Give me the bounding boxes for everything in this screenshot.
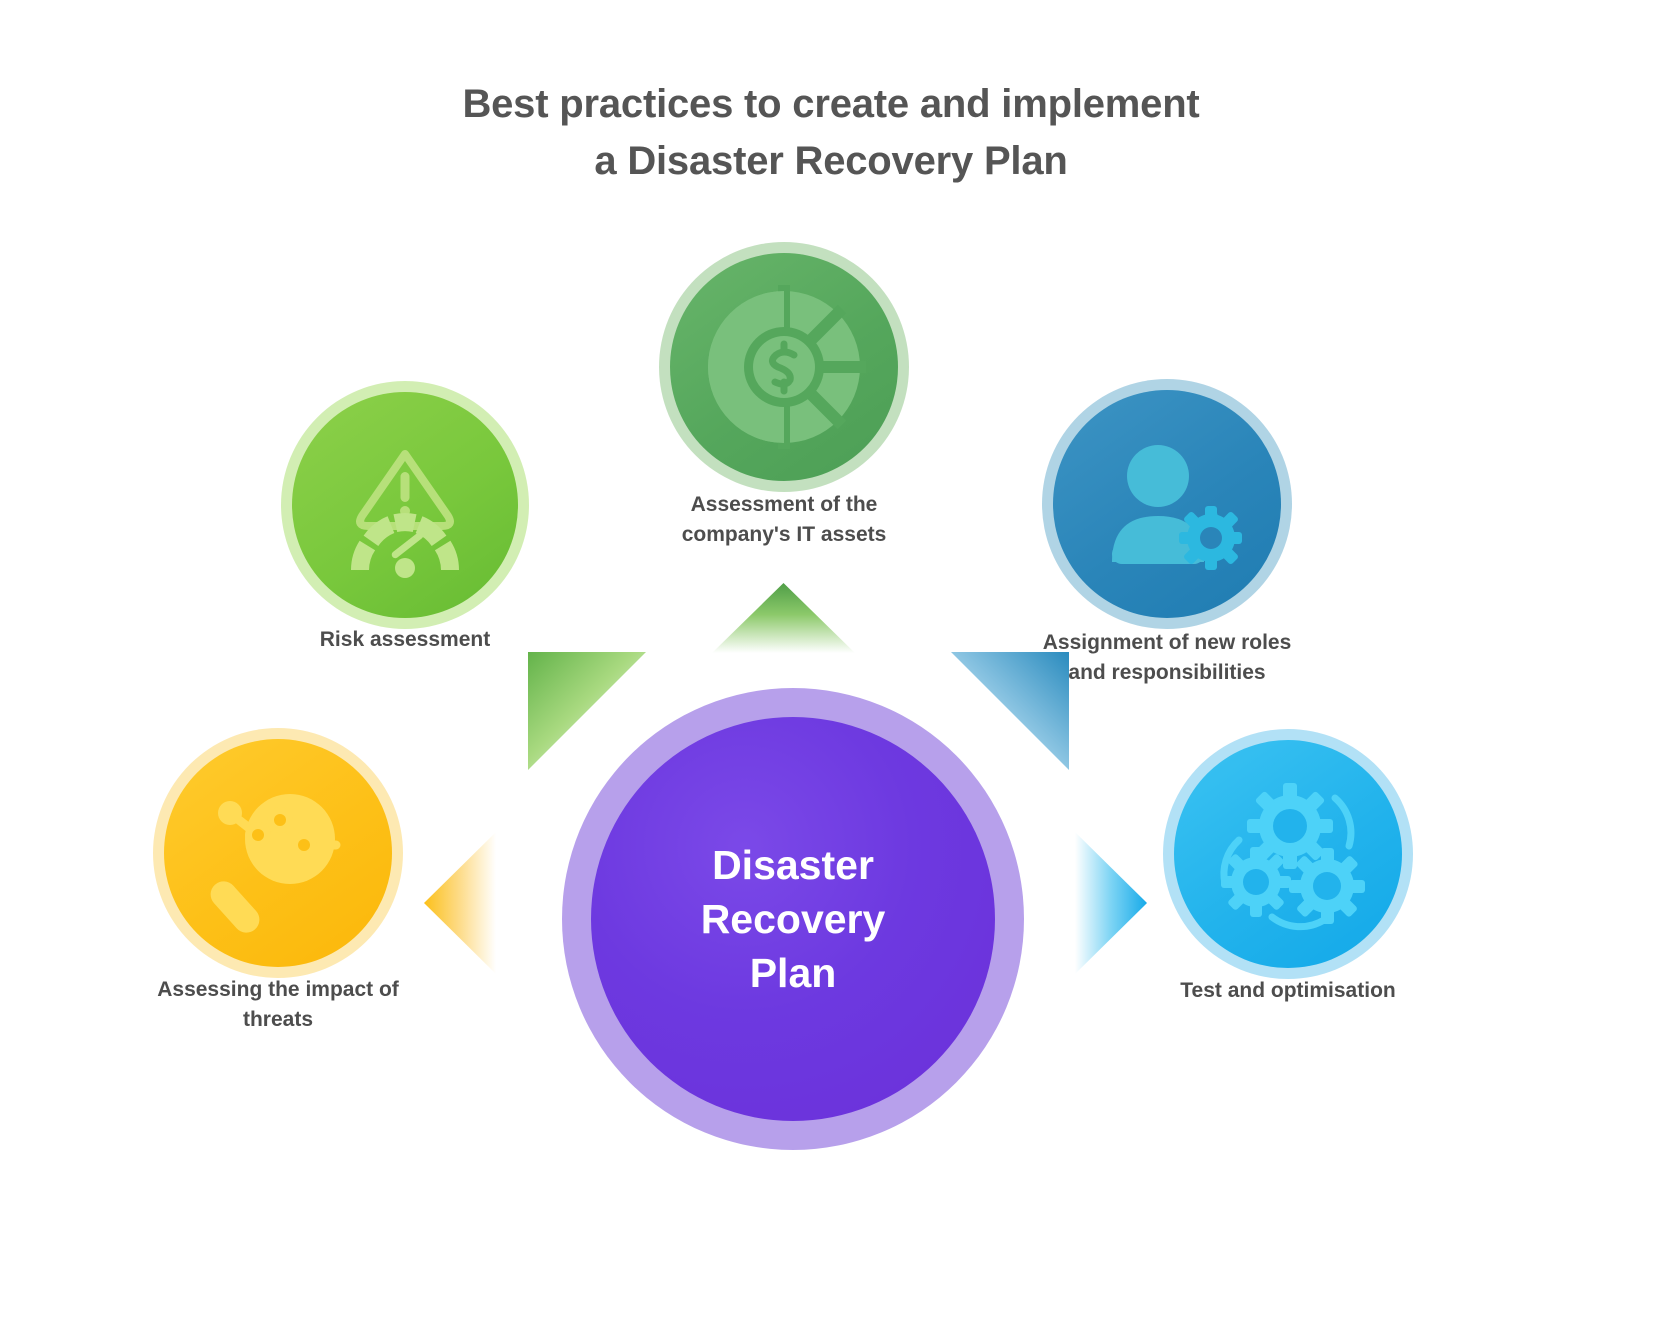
test-optimisation-label: Test and optimisation: [1105, 976, 1471, 1006]
center-disaster-recovery-plan[interactable]: Disaster Recovery Plan: [591, 717, 995, 1121]
warning-gauge-icon: [330, 430, 480, 580]
infographic-canvas: Best practices to create and implement a…: [0, 0, 1662, 1319]
magnifier-chart-icon: [198, 773, 358, 933]
arrow-to-risk-icon: [528, 652, 646, 770]
it-assets-label: Assessment of the company's IT assets: [601, 490, 967, 551]
donut-chart-dollar-icon: [696, 279, 872, 455]
title-line-2: a Disaster Recovery Plan: [0, 133, 1662, 190]
node-roles-assignment[interactable]: [1053, 390, 1281, 618]
node-it-assets-assessment[interactable]: [670, 253, 898, 481]
node-threat-impact[interactable]: [164, 739, 392, 967]
node-test-optimisation[interactable]: [1174, 740, 1402, 968]
page-title: Best practices to create and implement a…: [0, 76, 1662, 190]
three-gears-icon: [1208, 774, 1368, 934]
risk-assessment-label: Risk assessment: [222, 625, 588, 655]
node-risk-assessment[interactable]: [292, 392, 518, 618]
roles-assignment-label: Assignment of new roles and responsibili…: [984, 628, 1350, 689]
title-line-1: Best practices to create and implement: [462, 82, 1199, 126]
user-gear-icon: [1092, 434, 1242, 574]
threat-impact-label: Assessing the impact of threats: [95, 975, 461, 1036]
center-label: Disaster Recovery Plan: [701, 838, 886, 1000]
arrow-to-threats-icon: [424, 832, 496, 974]
arrow-to-test-icon: [1075, 832, 1147, 974]
arrow-to-it-assets-icon: [712, 583, 855, 653]
